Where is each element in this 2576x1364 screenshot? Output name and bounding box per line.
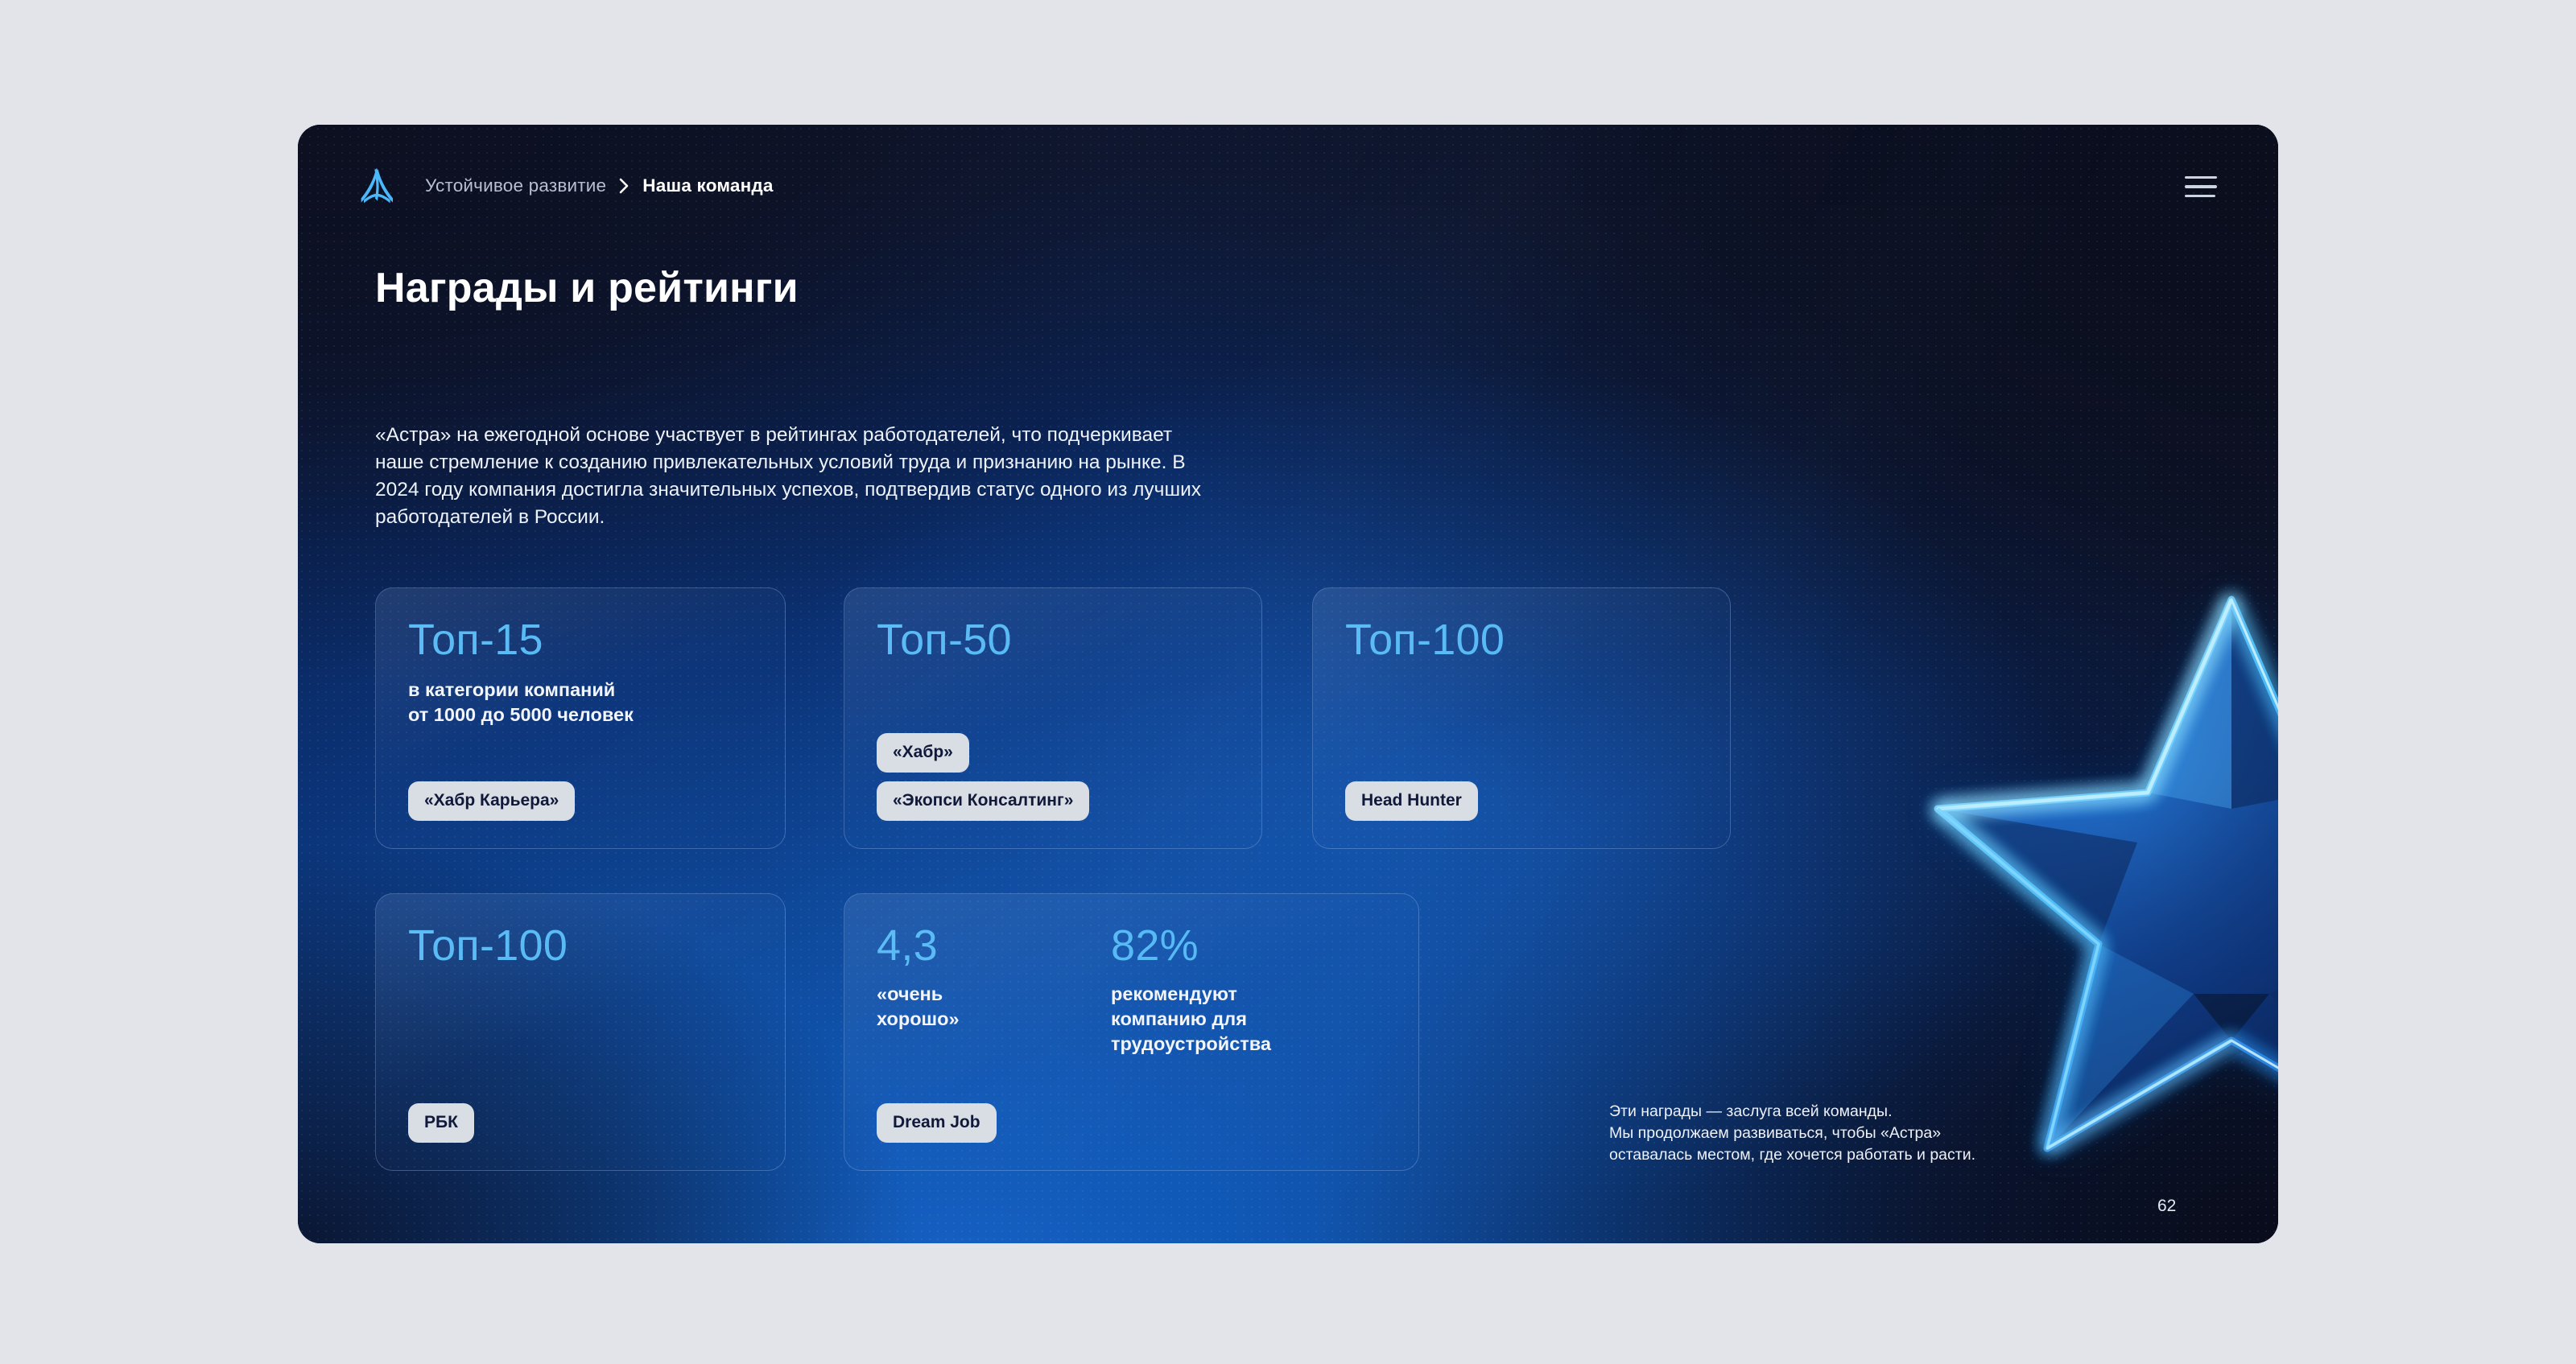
stat-rating: 4,3 «очень хорошо» [877, 923, 1018, 1057]
breadcrumb-current[interactable]: Наша команда [642, 175, 773, 196]
award-card-content: Топ-100 Head Hunter [1313, 588, 1730, 848]
award-badge-list: Dream Job [877, 1103, 1386, 1143]
award-badge-list: РБК [408, 1103, 753, 1143]
award-card-content: Топ-50 «Хабр» «Экопси Консалтинг» [844, 588, 1261, 848]
award-headline: Топ-100 [408, 923, 753, 969]
stat-caption: рекомендуют компанию для трудоустройства [1111, 982, 1304, 1057]
award-headline: Топ-15 [408, 617, 753, 663]
award-card-content: 4,3 «очень хорошо» 82% рекомендуют компа… [844, 894, 1418, 1170]
burger-line-2 [2185, 185, 2217, 187]
burger-line-3 [2185, 195, 2215, 197]
award-card-top-15[interactable]: Топ-15 в категории компаний от 1000 до 5… [375, 587, 786, 849]
stat-value: 4,3 [877, 923, 1018, 969]
page-title: Награды и рейтинги [375, 264, 799, 312]
chevron-right-icon [619, 178, 630, 194]
astra-logo-glyph [359, 167, 396, 205]
award-card-content: Топ-15 в категории компаний от 1000 до 5… [376, 588, 785, 848]
award-headline: Топ-50 [877, 617, 1229, 663]
burger-line-1 [2185, 176, 2217, 179]
hamburger-menu-icon[interactable] [2185, 175, 2217, 197]
award-badge-list: Head Hunter [1345, 781, 1698, 821]
award-badge-list: «Хабр Карьера» [408, 781, 753, 821]
award-card-top-50[interactable]: Топ-50 «Хабр» «Экопси Консалтинг» [844, 587, 1262, 849]
intro-paragraph: «Астра» на ежегодной основе участвует в … [375, 422, 1212, 531]
closing-note: Эти награды — заслуга всей команды. Мы п… [1609, 1101, 2108, 1166]
stat-recommend: 82% рекомендуют компанию для трудоустрой… [1111, 923, 1336, 1057]
award-card-content: Топ-100 РБК [376, 894, 785, 1170]
astra-logo-icon[interactable] [359, 167, 396, 205]
award-card-top-100-rbk[interactable]: Топ-100 РБК [375, 893, 786, 1171]
stat-caption: «очень хорошо» [877, 982, 1018, 1032]
breadcrumb: Устойчивое развитие Наша команда [425, 175, 774, 196]
award-card-dream-job[interactable]: 4,3 «очень хорошо» 82% рекомендуют компа… [844, 893, 1419, 1171]
award-headline: Топ-100 [1345, 617, 1698, 663]
slide-header: Устойчивое развитие Наша команда [359, 163, 2217, 208]
award-source-badge[interactable]: «Хабр» [877, 733, 969, 773]
award-source-badge[interactable]: «Экопси Консалтинг» [877, 781, 1089, 821]
stat-value: 82% [1111, 923, 1336, 969]
page-number: 62 [2157, 1197, 2176, 1216]
breadcrumb-parent[interactable]: Устойчивое развитие [425, 175, 606, 196]
award-source-badge[interactable]: «Хабр Карьера» [408, 781, 575, 821]
screenshot-canvas: Устойчивое развитие Наша команда Награды… [0, 0, 2576, 1364]
chevron-right-glyph [619, 178, 630, 194]
award-subtitle: в категории компаний от 1000 до 5000 чел… [408, 678, 753, 727]
award-card-top-100-headhunter[interactable]: Топ-100 Head Hunter [1312, 587, 1731, 849]
stat-group: 4,3 «очень хорошо» 82% рекомендуют компа… [877, 923, 1386, 1057]
award-source-badge[interactable]: РБК [408, 1103, 474, 1143]
award-badge-list: «Хабр» «Экопси Консалтинг» [877, 733, 1229, 821]
award-source-badge[interactable]: Head Hunter [1345, 781, 1478, 821]
award-source-badge[interactable]: Dream Job [877, 1103, 997, 1143]
